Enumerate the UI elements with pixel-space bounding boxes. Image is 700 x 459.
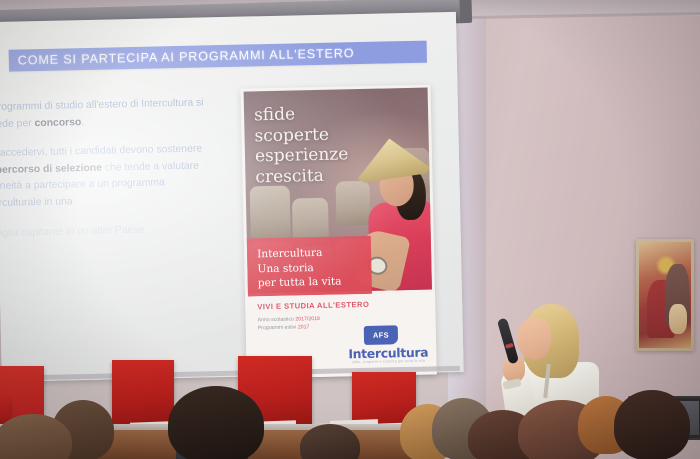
holy-family-icon: [639, 242, 691, 348]
fine-print-label-1: Anno scolastico: [258, 316, 296, 323]
fine-print-label-2: Programmi estivi: [258, 324, 298, 331]
wall-art-frame: [636, 239, 694, 351]
brochure-subtitle: VIVI E STUDIA ALL'ESTERO: [257, 300, 369, 311]
brochure-image: sfide scoperte esperienze crescita Inter…: [241, 84, 437, 378]
audience-head: [168, 386, 264, 459]
chair: [112, 360, 174, 424]
band-line-3: per tutta la vita: [258, 274, 372, 291]
slide-paragraph-1-before: Ai programmi di studio all'estero di Int…: [0, 97, 204, 129]
fine-print-value-2: 2017: [298, 324, 310, 330]
slide-title-bar: COME SI PARTECIPA AI PROGRAMMI ALL'ESTER…: [9, 41, 427, 72]
slide-paragraph-2-bold: percorso di selezione: [0, 162, 102, 175]
afs-mark-text: AFS: [373, 330, 389, 339]
microphone: [497, 318, 519, 365]
slide-paragraph-3-faded: famiglia ospitante in un altro Paese: [0, 221, 215, 243]
slide-paragraph-1-after: .: [81, 117, 84, 128]
headline-line-3: esperienze: [255, 144, 375, 167]
presenter-face: [517, 318, 551, 360]
brochure-red-band: Intercultura Una storia per tutta la vit…: [247, 236, 372, 297]
logo-tagline: sfide, scoperte e crescita per tutta la …: [348, 359, 428, 365]
slide-paragraph-2: Per accedervi, tutti i candidati devono …: [0, 141, 214, 212]
slide-body-text: Ai programmi di studio all'estero di Int…: [0, 95, 215, 255]
fine-print-line-2: Programmi estivi 2017: [258, 323, 320, 332]
headline-line-4: crescita: [255, 164, 375, 187]
afs-flag-icon: AFS: [364, 325, 398, 345]
fine-print-value-1: 2017/2018: [295, 316, 320, 323]
icon-figure-child: [669, 304, 687, 334]
projection-screen: COME SI PARTECIPA AI PROGRAMMI ALL'ESTER…: [0, 12, 464, 382]
presentation-room-photo: COME SI PARTECIPA AI PROGRAMMI ALL'ESTER…: [0, 0, 700, 459]
stone-block: [250, 186, 291, 239]
intercultura-logo: AFS Intercultura sfide, scoperte e cresc…: [348, 325, 429, 369]
slide-paragraph-1: Ai programmi di studio all'estero di Int…: [0, 95, 212, 133]
headline-line-2: scoperte: [254, 123, 374, 146]
headline-line-1: sfide: [254, 103, 374, 126]
brochure-headline: sfide scoperte esperienze crescita: [254, 103, 376, 188]
audience-head: [614, 390, 690, 459]
projected-slide: COME SI PARTECIPA AI PROGRAMMI ALL'ESTER…: [0, 12, 464, 382]
slide-paragraph-1-bold: concorso: [34, 117, 81, 129]
brochure-fine-print: Anno scolastico 2017/2018 Programmi esti…: [257, 315, 320, 332]
slide-title: COME SI PARTECIPA AI PROGRAMMI ALL'ESTER…: [9, 46, 355, 68]
